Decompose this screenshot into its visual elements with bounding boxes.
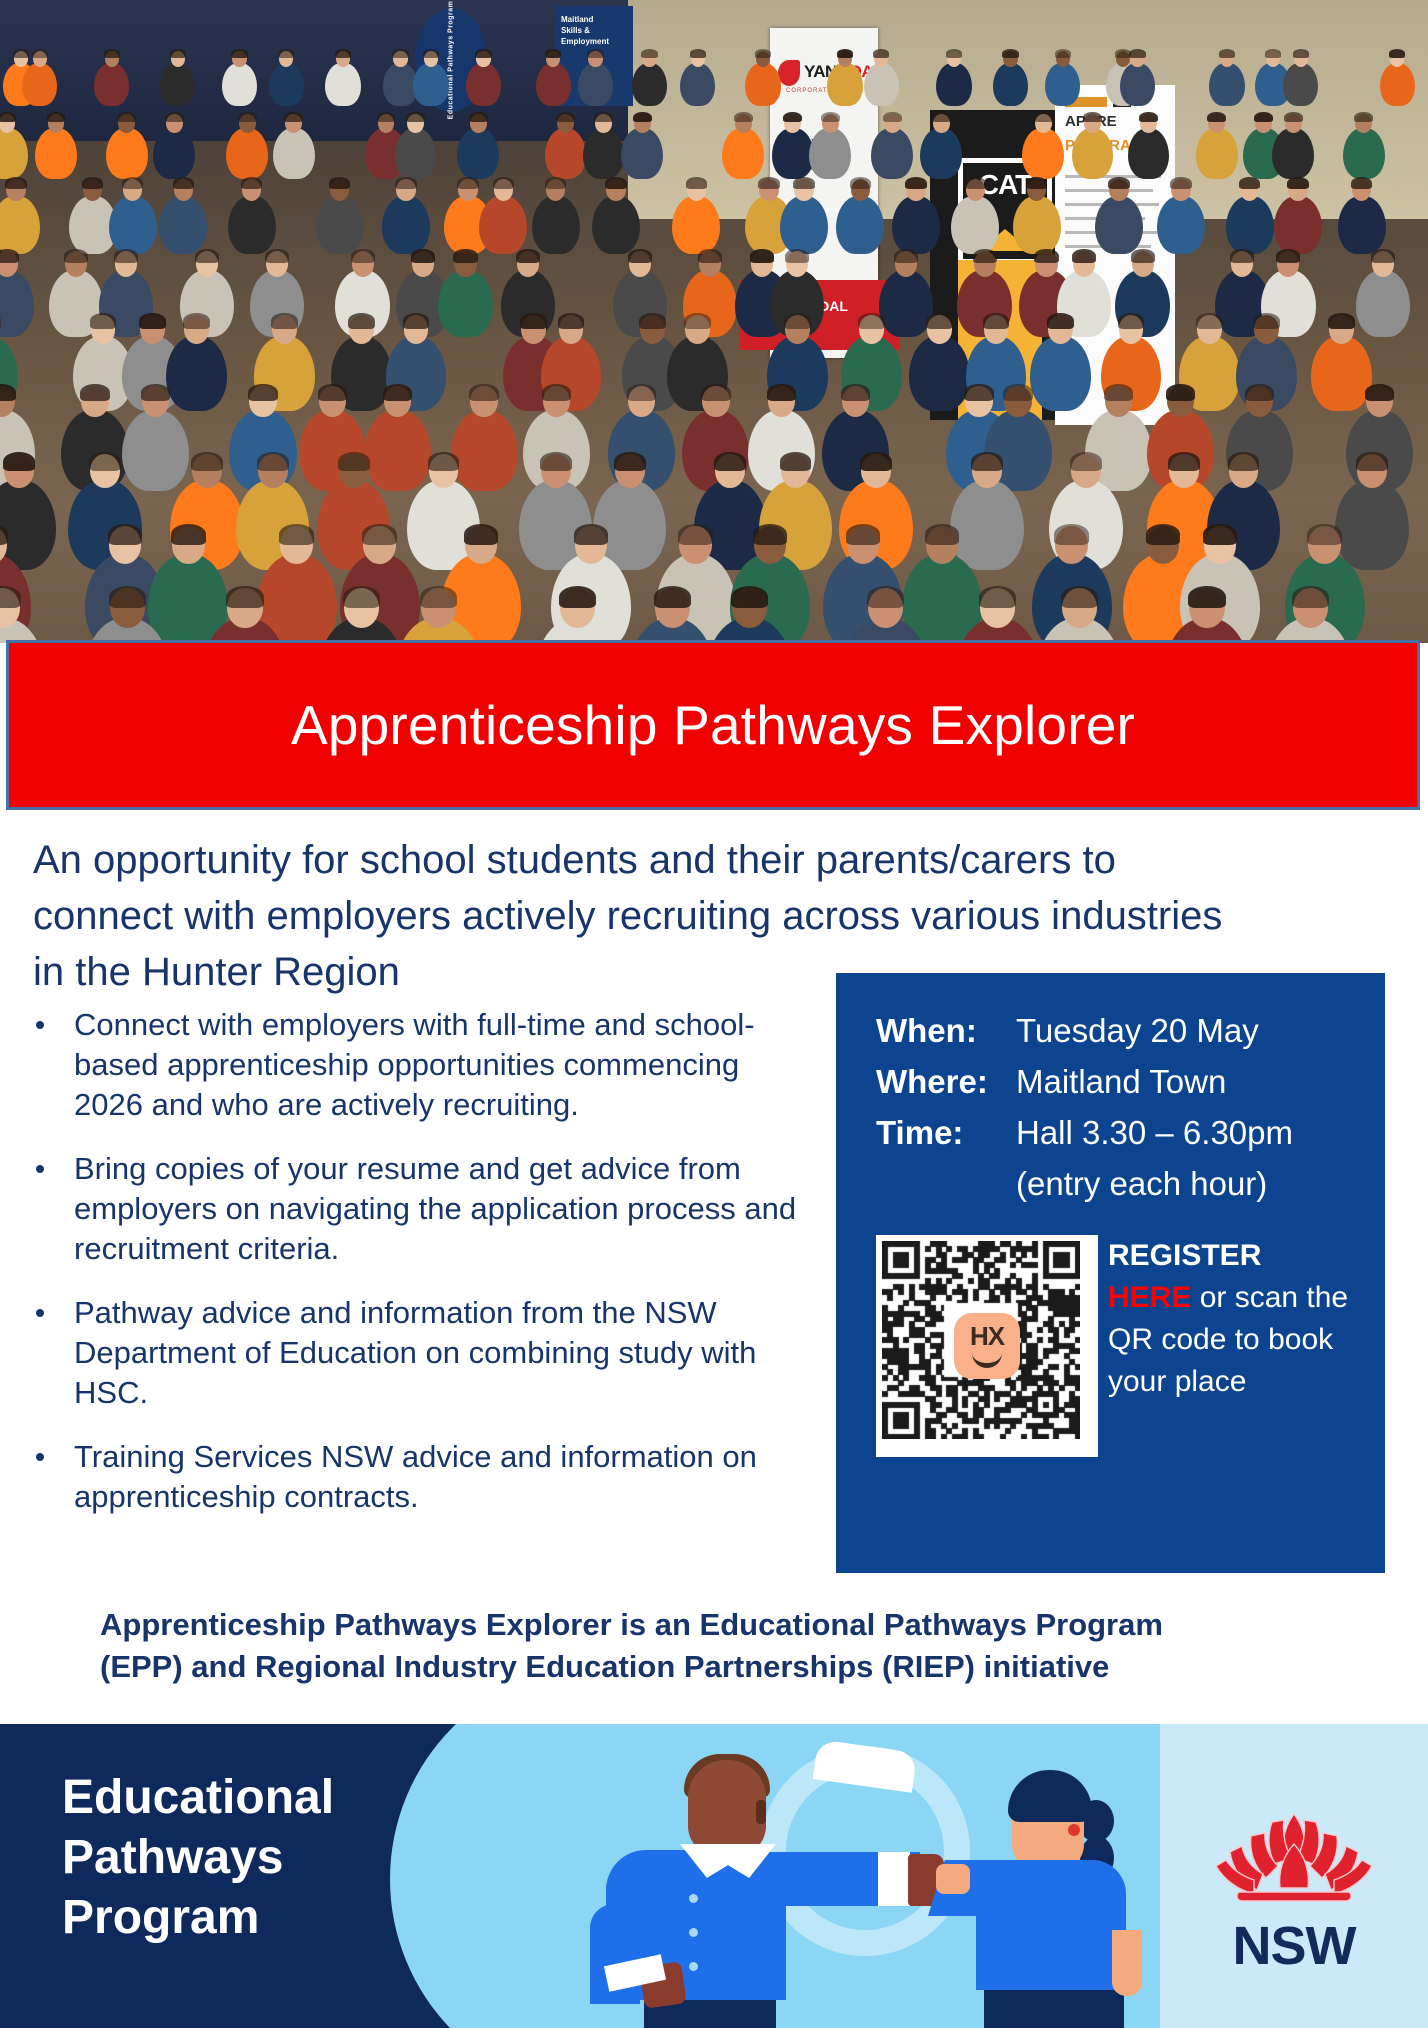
footer-banner: Educational Pathways Program <box>0 1724 1428 2028</box>
benefits-list: Connect with employers with full-time an… <box>22 1005 812 1541</box>
man-head <box>688 1760 766 1856</box>
register-heading: REGISTER <box>1108 1235 1358 1277</box>
qr-logo-text: HX <box>970 1324 1004 1348</box>
event-value-time: Hall 3.30 – 6.30pm <box>1016 1107 1293 1158</box>
bullet-dot-icon <box>36 1453 44 1461</box>
epp-logo-line2: Pathways <box>62 1828 334 1888</box>
event-label-when: When: <box>876 1005 1016 1056</box>
event-label-where: Where: <box>876 1056 1016 1107</box>
event-details-lines: When: Tuesday 20 May Where: Maitland Tow… <box>876 1005 1293 1209</box>
hero-photo: Educational Pathways Program MaitlandSki… <box>0 0 1428 643</box>
photo-banner-epp-label: Educational Pathways Program <box>448 1 455 120</box>
benefit-item-text: Training Services NSW advice and informa… <box>74 1439 757 1514</box>
man-ear <box>756 1800 766 1824</box>
benefit-item: Connect with employers with full-time an… <box>22 1005 812 1125</box>
event-entry-note: (entry each hour) <box>1016 1158 1293 1209</box>
benefit-item-text: Pathway advice and information from the … <box>74 1295 756 1410</box>
man-button-2 <box>689 1928 698 1937</box>
register-here-link[interactable]: HERE <box>1108 1281 1191 1314</box>
initiative-caption: Apprenticeship Pathways Explorer is an E… <box>100 1604 1350 1688</box>
epp-logo-text: Educational Pathways Program <box>62 1768 334 1948</box>
intro-line-1: An opportunity for school students and t… <box>33 832 1395 888</box>
man-arm-cuff <box>878 1852 910 1906</box>
elbow-bump-illustration <box>560 1724 1160 2028</box>
woman-side-arm <box>1112 1930 1142 1996</box>
event-row-where: Where: Maitland Town <box>876 1056 1293 1107</box>
benefit-item: Training Services NSW advice and informa… <box>22 1437 812 1517</box>
man-button-1 <box>689 1894 698 1903</box>
caption-line-2: (EPP) and Regional Industry Education Pa… <box>100 1646 1350 1688</box>
intro-line-2: connect with employers actively recruiti… <box>33 888 1395 944</box>
benefit-item-text: Bring copies of your resume and get advi… <box>74 1151 796 1266</box>
bullet-dot-icon <box>36 1309 44 1317</box>
bullet-dot-icon <box>36 1165 44 1173</box>
title-banner: Apprenticeship Pathways Explorer <box>6 640 1420 810</box>
event-label-time: Time: <box>876 1107 1016 1158</box>
qr-center-logo: HX <box>954 1313 1020 1379</box>
woman-hand <box>936 1864 970 1894</box>
benefit-item-text: Connect with employers with full-time an… <box>74 1007 755 1122</box>
epp-logo-line1: Educational <box>62 1768 334 1828</box>
event-row-time: Time: Hall 3.30 – 6.30pm <box>876 1107 1293 1158</box>
waratah-icon <box>1194 1808 1394 1914</box>
man-button-3 <box>689 1962 698 1971</box>
event-details-box: When: Tuesday 20 May Where: Maitland Tow… <box>836 973 1385 1573</box>
epp-logo-line3: Program <box>62 1888 334 1948</box>
event-value-where: Maitland Town <box>1016 1056 1226 1107</box>
benefit-item: Pathway advice and information from the … <box>22 1293 812 1413</box>
qr-code[interactable]: HX <box>876 1235 1098 1457</box>
woman-hair <box>1008 1770 1092 1822</box>
event-row-when: When: Tuesday 20 May <box>876 1005 1293 1056</box>
bullet-dot-icon <box>36 1021 44 1029</box>
yancoal-flame-icon <box>778 60 800 86</box>
woman-earring <box>1068 1824 1080 1836</box>
woman-skirt <box>984 1986 1124 2028</box>
event-value-when: Tuesday 20 May <box>1016 1005 1259 1056</box>
page-title: Apprenticeship Pathways Explorer <box>291 693 1135 757</box>
smile-icon <box>972 1350 1002 1368</box>
benefit-item: Bring copies of your resume and get advi… <box>22 1149 812 1269</box>
caption-line-1: Apprenticeship Pathways Explorer is an E… <box>100 1604 1350 1646</box>
nsw-wordmark: NSW <box>1180 1915 1408 1977</box>
nsw-logo: NSW <box>1180 1808 1408 1978</box>
photo-banner-blue-label: MaitlandSkills &Employment <box>561 14 609 47</box>
register-instructions: REGISTER HERE or scan the QR code to boo… <box>1108 1235 1358 1403</box>
woman-top <box>976 1860 1126 1990</box>
